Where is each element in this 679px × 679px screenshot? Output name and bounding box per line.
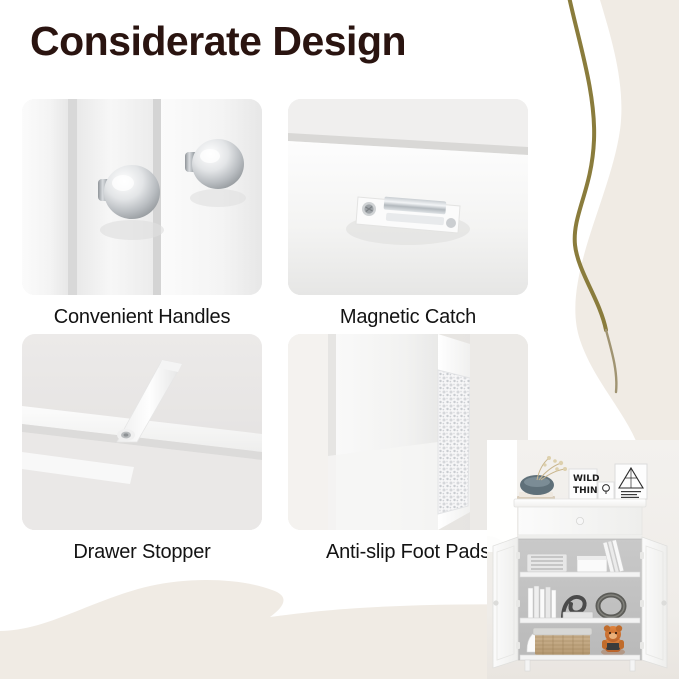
- feature-image-drawer-stopper: [22, 334, 262, 530]
- feature-card-magnetic-catch: Magnetic Catch: [288, 99, 528, 329]
- product-photo: WILD THING: [487, 440, 679, 679]
- magnetic-catch-photo: [288, 99, 528, 295]
- handles-photo: [22, 99, 262, 295]
- feature-image-magnetic-catch: [288, 99, 528, 295]
- drawer-stopper-photo: [22, 334, 262, 530]
- cabinet-illustration: WILD THING: [487, 440, 679, 679]
- infographic-page: Considerate Design: [0, 0, 679, 679]
- gold-curve-line: [568, 0, 606, 330]
- svg-text:WILD: WILD: [573, 474, 599, 484]
- feature-card-drawer-stopper: Drawer Stopper: [22, 334, 262, 564]
- gold-curve-line-tail: [606, 330, 616, 392]
- feature-caption: Magnetic Catch: [288, 306, 528, 329]
- feature-image-convenient-handles: [22, 99, 262, 295]
- feature-card-convenient-handles: Convenient Handles: [22, 99, 262, 329]
- page-title: Considerate Design: [30, 18, 406, 65]
- feature-caption: Drawer Stopper: [22, 541, 262, 564]
- feature-caption: Convenient Handles: [22, 306, 262, 329]
